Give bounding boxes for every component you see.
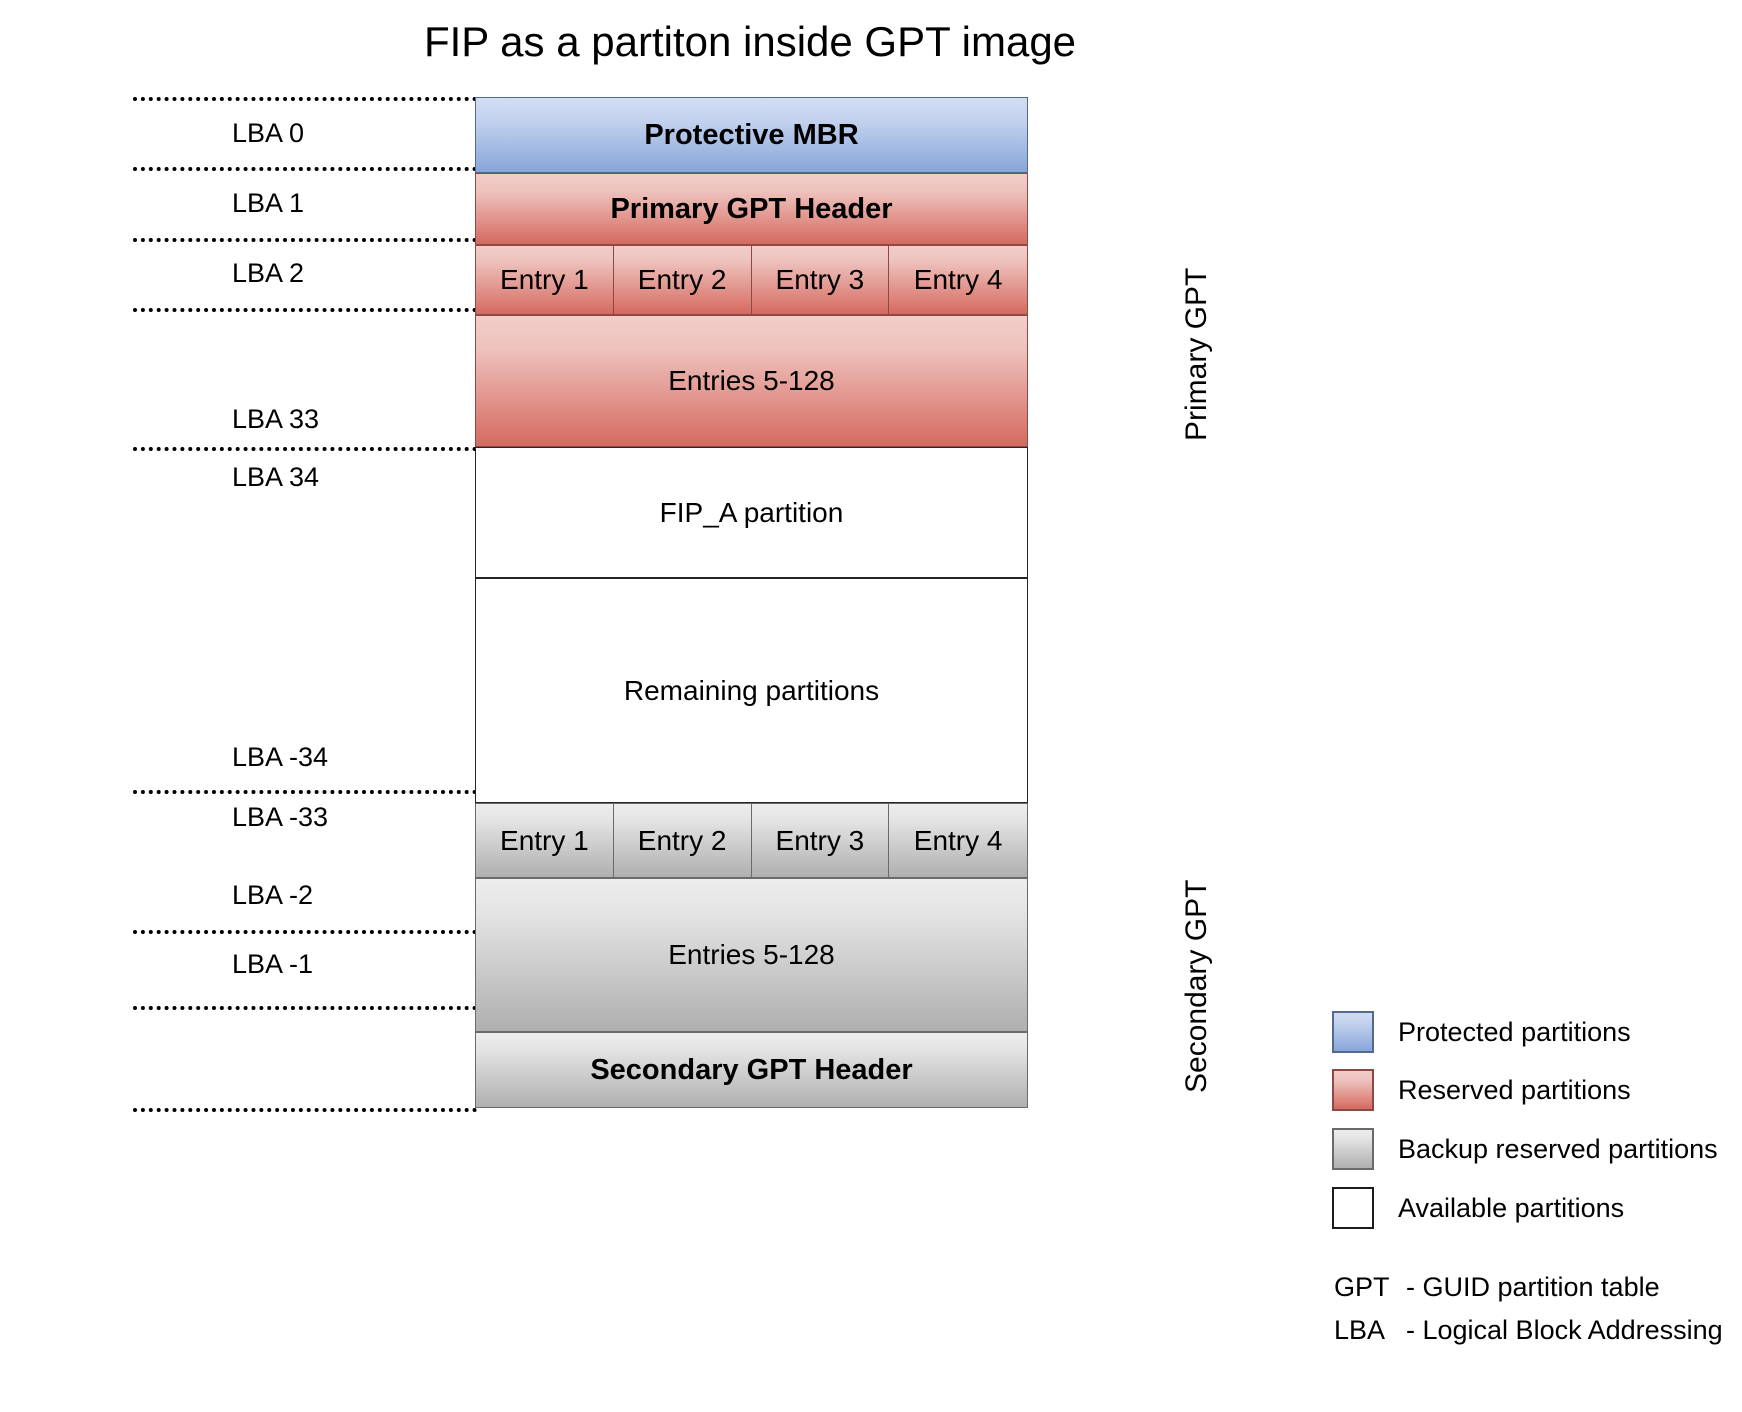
gpt-region-label: Secondary GPT: [1180, 880, 1214, 1093]
partition-block: Protective MBR: [475, 97, 1028, 173]
legend-swatch-red: [1332, 1069, 1374, 1111]
abbreviation-value: - GUID partition table: [1406, 1272, 1660, 1303]
partition-entry-cell: Entry 3: [752, 804, 890, 877]
partition-entry-row: Entry 1Entry 2Entry 3Entry 4: [475, 245, 1028, 315]
legend-swatch-white: [1332, 1187, 1374, 1229]
partition-entry-cell: Entry 1: [476, 804, 614, 877]
lba-label: LBA -2: [232, 880, 313, 911]
partition-block: Secondary GPT Header: [475, 1032, 1028, 1108]
lba-label: LBA 0: [232, 118, 304, 149]
legend-swatch-gray: [1332, 1128, 1374, 1170]
legend-label: Reserved partitions: [1398, 1075, 1631, 1106]
abbreviation-row: GPT- GUID partition table: [1334, 1272, 1723, 1303]
legend-label: Backup reserved partitions: [1398, 1134, 1718, 1165]
lba-guide-line: [133, 447, 477, 451]
lba-label: LBA 34: [232, 462, 319, 493]
partition-entry-row: Entry 1Entry 2Entry 3Entry 4: [475, 803, 1028, 878]
legend-item: Backup reserved partitions: [1332, 1127, 1718, 1171]
lba-label: LBA -33: [232, 802, 328, 833]
legend-swatch-blue: [1332, 1011, 1374, 1053]
lba-label: LBA 2: [232, 258, 304, 289]
lba-guide-line: [133, 308, 477, 312]
partition-entry-cell: Entry 4: [889, 804, 1027, 877]
legend-item: Available partitions: [1332, 1186, 1624, 1230]
abbreviation-key: LBA: [1334, 1315, 1406, 1346]
gpt-layout-diagram: Protective MBRPrimary GPT HeaderEntries …: [475, 97, 1028, 1108]
abbreviation-list: GPT- GUID partition tableLBA- Logical Bl…: [1334, 1272, 1723, 1358]
lba-guide-line: [133, 1006, 477, 1010]
abbreviation-value: - Logical Block Addressing: [1406, 1315, 1723, 1346]
partition-block: Remaining partitions: [475, 578, 1028, 803]
partition-block: Primary GPT Header: [475, 173, 1028, 245]
page-title: FIP as a partiton inside GPT image: [0, 18, 1500, 66]
lba-label: LBA -1: [232, 949, 313, 980]
partition-block: Entries 5-128: [475, 878, 1028, 1032]
legend-item: Reserved partitions: [1332, 1068, 1631, 1112]
partition-entry-cell: Entry 4: [889, 246, 1027, 314]
partition-entry-cell: Entry 2: [614, 246, 752, 314]
partition-entry-cell: Entry 2: [614, 804, 752, 877]
partition-entry-cell: Entry 1: [476, 246, 614, 314]
legend-label: Protected partitions: [1398, 1017, 1631, 1048]
legend-label: Available partitions: [1398, 1193, 1624, 1224]
partition-block: Entries 5-128: [475, 315, 1028, 447]
gpt-region-label: Primary GPT: [1180, 268, 1214, 441]
partition-entry-cell: Entry 3: [752, 246, 890, 314]
abbreviation-row: LBA- Logical Block Addressing: [1334, 1315, 1723, 1346]
lba-guide-line: [133, 97, 477, 101]
lba-guide-line: [133, 790, 477, 794]
abbreviation-key: GPT: [1334, 1272, 1406, 1303]
legend-item: Protected partitions: [1332, 1010, 1631, 1054]
lba-label: LBA -34: [232, 742, 328, 773]
lba-guide-line: [133, 238, 477, 242]
lba-guide-line: [133, 1108, 477, 1112]
partition-block: FIP_A partition: [475, 447, 1028, 578]
lba-guide-line: [133, 167, 477, 171]
lba-guide-line: [133, 930, 477, 934]
lba-label: LBA 33: [232, 404, 319, 435]
lba-label: LBA 1: [232, 188, 304, 219]
